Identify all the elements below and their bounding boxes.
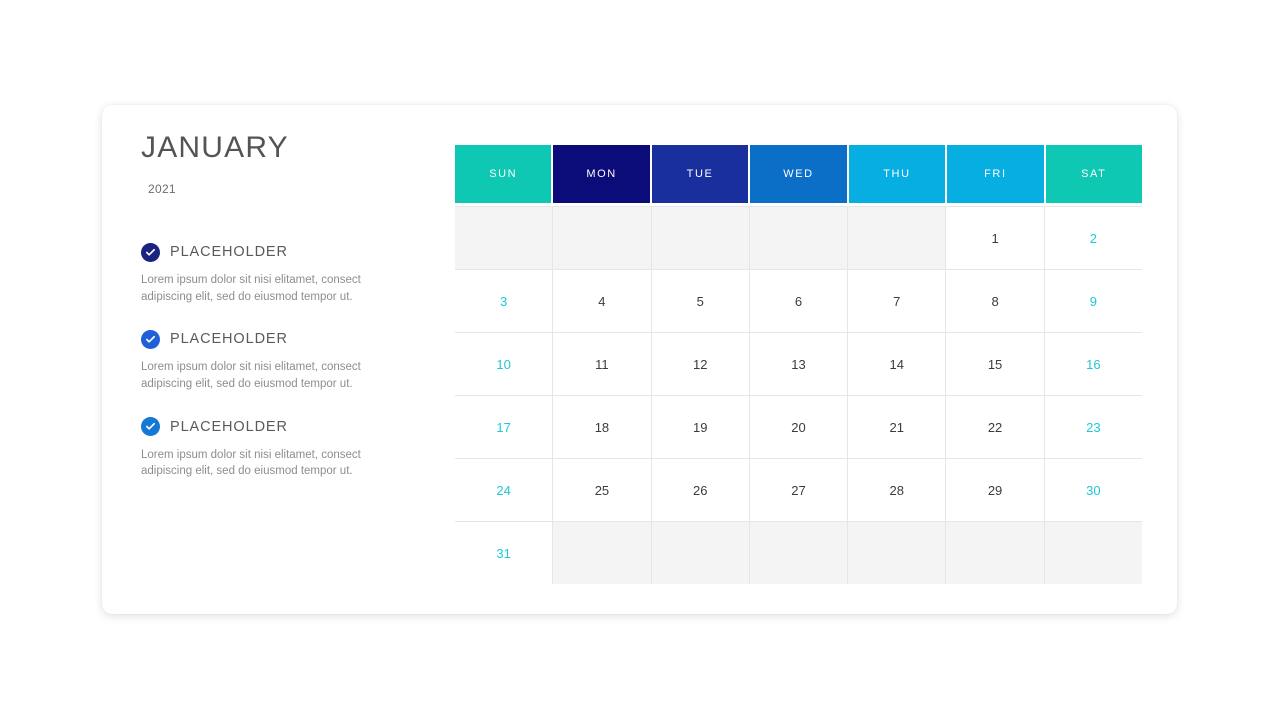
calendar-day-cell[interactable]: 18 [553, 396, 650, 458]
calendar-day-cell[interactable]: 21 [848, 396, 945, 458]
calendar-day-cell[interactable]: 2 [1045, 207, 1142, 269]
legend-list: PLACEHOLDERLorem ipsum dolor sit nisi el… [141, 242, 441, 480]
weekday-header-wed[interactable]: WED [750, 145, 846, 203]
calendar-day-cell[interactable]: 26 [652, 459, 749, 521]
legend-item-description: Lorem ipsum dolor sit nisi elitamet, con… [141, 447, 403, 480]
weekday-header-sun[interactable]: SUN [455, 145, 551, 203]
weekday-header-mon[interactable]: MON [553, 145, 649, 203]
calendar-day-cell[interactable]: 9 [1045, 270, 1142, 332]
legend-item-title: PLACEHOLDER [170, 244, 288, 260]
calendar-cell-empty [455, 207, 552, 269]
calendar-cell-empty [553, 522, 650, 584]
calendar-cell-empty [652, 207, 749, 269]
legend-item-description: Lorem ipsum dolor sit nisi elitamet, con… [141, 359, 403, 392]
year-label: 2021 [148, 182, 441, 196]
calendar-day-cell[interactable]: 14 [848, 333, 945, 395]
legend-item-header: PLACEHOLDER [141, 242, 441, 262]
calendar-grid: 1234567891011121314151617181920212223242… [455, 206, 1142, 584]
weekday-header-thu[interactable]: THU [849, 145, 945, 203]
calendar-day-cell[interactable]: 19 [652, 396, 749, 458]
legend-item-header: PLACEHOLDER [141, 417, 441, 437]
calendar-day-cell[interactable]: 4 [553, 270, 650, 332]
calendar-day-cell[interactable]: 17 [455, 396, 552, 458]
calendar-day-cell[interactable]: 30 [1045, 459, 1142, 521]
calendar-day-cell[interactable]: 10 [455, 333, 552, 395]
calendar-cell-empty [750, 207, 847, 269]
calendar-day-cell[interactable]: 25 [553, 459, 650, 521]
calendar-day-cell[interactable]: 12 [652, 333, 749, 395]
calendar-day-cell[interactable]: 6 [750, 270, 847, 332]
check-circle-icon [141, 243, 160, 262]
calendar-day-cell[interactable]: 29 [946, 459, 1043, 521]
calendar-cell-empty [652, 522, 749, 584]
calendar-day-cell[interactable]: 31 [455, 522, 552, 584]
calendar-day-cell[interactable]: 24 [455, 459, 552, 521]
calendar: SUNMONTUEWEDTHUFRISAT 123456789101112131… [455, 145, 1142, 584]
legend-item: PLACEHOLDERLorem ipsum dolor sit nisi el… [141, 417, 441, 480]
calendar-cell-empty [1045, 522, 1142, 584]
calendar-day-cell[interactable]: 7 [848, 270, 945, 332]
calendar-cell-empty [946, 522, 1043, 584]
legend-item-title: PLACEHOLDER [170, 419, 288, 435]
calendar-cell-empty [750, 522, 847, 584]
weekday-header-sat[interactable]: SAT [1046, 145, 1142, 203]
calendar-day-cell[interactable]: 23 [1045, 396, 1142, 458]
weekday-header-fri[interactable]: FRI [947, 145, 1043, 203]
weekday-header-tue[interactable]: TUE [652, 145, 748, 203]
legend-item-description: Lorem ipsum dolor sit nisi elitamet, con… [141, 272, 403, 305]
calendar-day-cell[interactable]: 20 [750, 396, 847, 458]
calendar-day-cell[interactable]: 1 [946, 207, 1043, 269]
calendar-cell-empty [848, 207, 945, 269]
page-title: JANUARY [141, 133, 441, 163]
legend-item: PLACEHOLDERLorem ipsum dolor sit nisi el… [141, 242, 441, 305]
calendar-cell-empty [848, 522, 945, 584]
calendar-day-cell[interactable]: 27 [750, 459, 847, 521]
legend-item-title: PLACEHOLDER [170, 331, 288, 347]
calendar-day-cell[interactable]: 13 [750, 333, 847, 395]
calendar-card: JANUARY 2021 PLACEHOLDERLorem ipsum dolo… [102, 105, 1177, 614]
left-panel: JANUARY 2021 PLACEHOLDERLorem ipsum dolo… [141, 133, 441, 480]
check-circle-icon [141, 330, 160, 349]
calendar-day-cell[interactable]: 3 [455, 270, 552, 332]
calendar-day-cell[interactable]: 8 [946, 270, 1043, 332]
calendar-day-cell[interactable]: 22 [946, 396, 1043, 458]
weekday-header-row: SUNMONTUEWEDTHUFRISAT [455, 145, 1142, 203]
calendar-day-cell[interactable]: 15 [946, 333, 1043, 395]
calendar-slide: JANUARY 2021 PLACEHOLDERLorem ipsum dolo… [0, 0, 1280, 720]
legend-item: PLACEHOLDERLorem ipsum dolor sit nisi el… [141, 329, 441, 392]
calendar-day-cell[interactable]: 11 [553, 333, 650, 395]
calendar-day-cell[interactable]: 5 [652, 270, 749, 332]
legend-item-header: PLACEHOLDER [141, 329, 441, 349]
calendar-cell-empty [553, 207, 650, 269]
calendar-day-cell[interactable]: 28 [848, 459, 945, 521]
calendar-day-cell[interactable]: 16 [1045, 333, 1142, 395]
check-circle-icon [141, 417, 160, 436]
